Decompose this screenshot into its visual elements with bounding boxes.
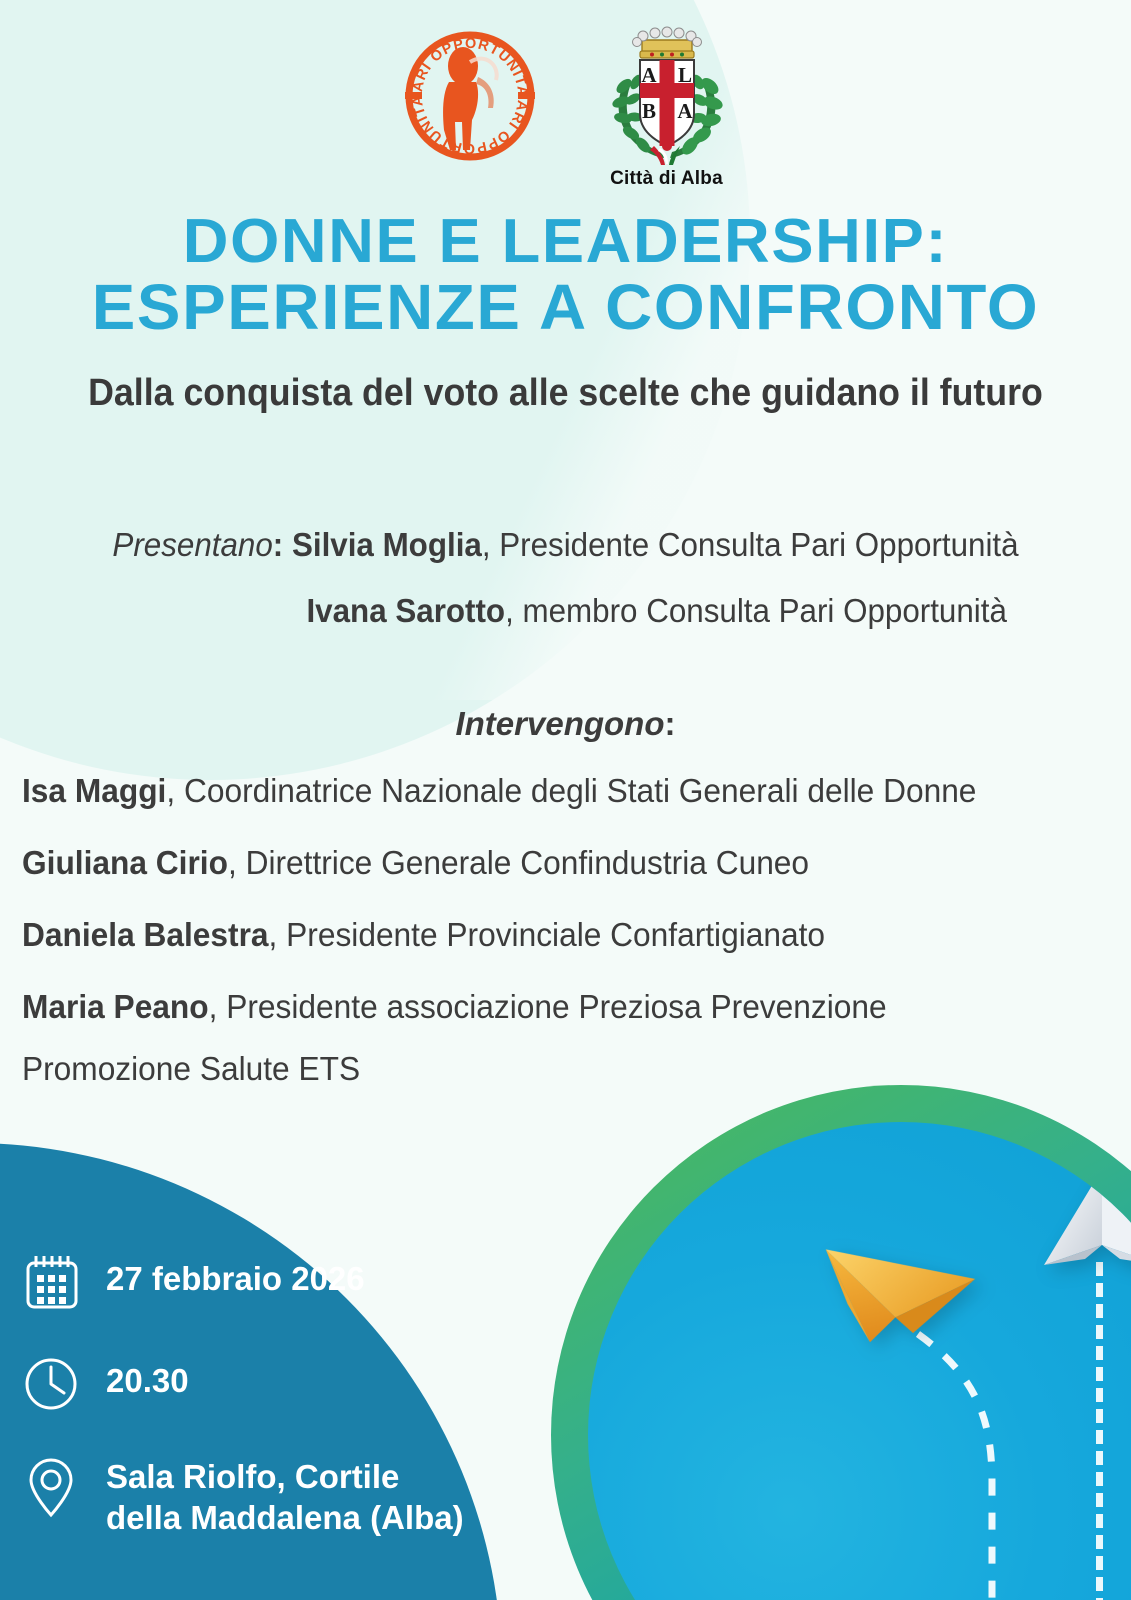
presenter-name-2: Ivana Sarotto — [306, 592, 505, 629]
speaker-row: Maria Peano, Presidente associazione Pre… — [22, 988, 1068, 1026]
speaker-row-continued: Promozione Salute ETS — [22, 1050, 1068, 1088]
speaker-name: Daniela Balestra — [22, 916, 269, 953]
event-location-line-1: Sala Riolfo, Cortile — [106, 1458, 399, 1495]
inner-blue-circle — [588, 1122, 1131, 1600]
speaker-row: Daniela Balestra, Presidente Provinciale… — [22, 916, 1068, 954]
citta-di-alba-block: A L B A Città di Alba — [602, 22, 732, 190]
speaker-role: , Presidente associazione Preziosa Preve… — [209, 988, 887, 1025]
presenter-row-2: Ivana Sarotto, membro Consulta Pari Oppo… — [28, 594, 1102, 627]
alba-shield: A L B A — [640, 60, 694, 146]
pari-opportunita-logo: PARI OPPORTUNITA' PARI OPPORTUNITA' — [400, 22, 540, 167]
dashed-trail-straight-1 — [1096, 1262, 1103, 1600]
white-paper-plane-icon-1 — [1040, 1167, 1131, 1272]
event-location-line-2: della Maddalena (Alba) — [106, 1499, 464, 1536]
svg-text:A: A — [677, 99, 693, 123]
speaker-role: , Direttrice Generale Confindustria Cune… — [228, 844, 809, 881]
speakers-heading: Intervengono: — [0, 705, 1131, 743]
citta-di-alba-label: Città di Alba — [610, 168, 723, 190]
poster-canvas: PARI OPPORTUNITA' PARI OPPORTUNITA' — [0, 0, 1131, 1600]
paper-planes-graphic — [551, 1085, 1131, 1600]
calendar-icon — [24, 1253, 80, 1311]
page-subtitle: Dalla conquista del voto alle scelte che… — [34, 372, 1097, 415]
speaker-role: , Coordinatrice Nazionale degli Stati Ge… — [166, 772, 976, 809]
speakers-heading-label: Intervengono — [455, 705, 664, 742]
citta-di-alba-crest: A L B A — [602, 22, 732, 172]
presenter-row-1: Presentano: Silvia Moglia, Presidente Co… — [28, 528, 1102, 561]
title-line-2: ESPERIENZE A CONFRONTO — [0, 274, 1131, 341]
speaker-row: Isa Maggi, Coordinatrice Nazionale degli… — [22, 772, 1068, 810]
event-info-location-row: Sala Riolfo, Cortile della Maddalena (Al… — [24, 1457, 494, 1538]
svg-text:A: A — [641, 63, 657, 87]
logo-bar: PARI OPPORTUNITA' PARI OPPORTUNITA' — [0, 22, 1131, 190]
title-line-1: DONNE E LEADERSHIP: — [0, 210, 1131, 274]
event-time-value: 20.30 — [106, 1355, 189, 1402]
event-info-date-row: 27 febbraio 2026 — [24, 1253, 494, 1311]
event-info-block: 27 febbraio 2026 20.30 Sala Riolfo, Cort… — [24, 1253, 494, 1582]
speaker-role: , Presidente Provinciale Confartigianato — [269, 916, 825, 953]
svg-text:B: B — [641, 99, 655, 123]
speaker-row: Giuliana Cirio, Direttrice Generale Conf… — [22, 844, 1068, 882]
presenter-name-1: Silvia Moglia — [292, 526, 482, 563]
event-location-value: Sala Riolfo, Cortile della Maddalena (Al… — [106, 1457, 464, 1538]
svg-text:L: L — [677, 63, 691, 87]
speaker-name: Maria Peano — [22, 988, 209, 1025]
speaker-name: Giuliana Cirio — [22, 844, 228, 881]
page-title: DONNE E LEADERSHIP: ESPERIENZE A CONFRON… — [0, 210, 1131, 341]
tricolor-ribbon — [650, 141, 680, 165]
presenters-block: Presentano: Silvia Moglia, Presidente Co… — [0, 528, 1131, 627]
presenters-lead-label: Presentano — [112, 526, 272, 563]
speakers-heading-colon: : — [665, 705, 676, 742]
location-pin-icon — [24, 1457, 80, 1515]
event-date-value: 27 febbraio 2026 — [106, 1253, 365, 1300]
presenter-role-2: , membro Consulta Pari Opportunità — [505, 592, 1007, 629]
presenter-role-1: , Presidente Consulta Pari Opportunità — [482, 526, 1019, 563]
crown-icon — [632, 27, 701, 58]
speaker-name: Isa Maggi — [22, 772, 166, 809]
speakers-list: Isa Maggi, Coordinatrice Nazionale degli… — [22, 772, 1112, 1122]
presenters-colon: : — [273, 526, 283, 563]
event-info-time-row: 20.30 — [24, 1355, 494, 1413]
clock-icon — [24, 1355, 80, 1413]
